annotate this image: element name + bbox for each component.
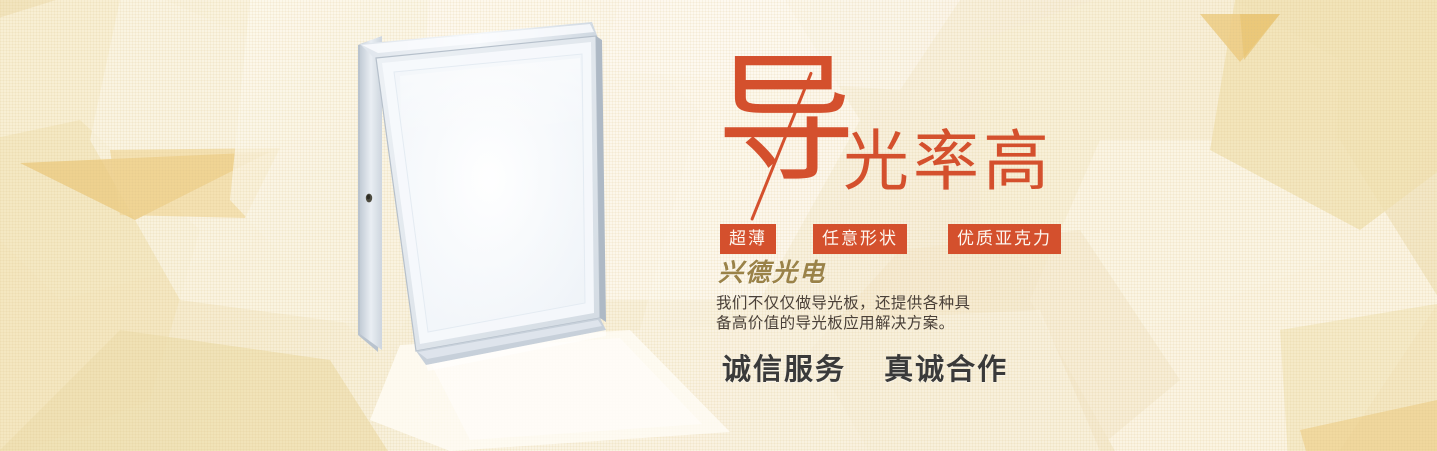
headline-primary-char: 导 — [716, 52, 856, 192]
description-text: 我们不仅仅做导光板，还提供各种具 备高价值的导光板应用解决方案。 — [716, 294, 1016, 334]
slogan-part-1: 诚信服务 — [722, 354, 846, 386]
headline-rest-text: 光率高 — [843, 130, 1053, 196]
description-line-2: 备高价值的导光板应用解决方案。 — [716, 314, 1016, 334]
brand-name: 兴德光电 — [718, 260, 826, 288]
promo-banner: 导 光率高 超薄 任意形状 优质亚克力 兴德光电 我们不仅仅做导光板，还提供各种… — [0, 0, 1437, 451]
slogan: 诚信服务 真诚合作 — [722, 353, 1008, 387]
slogan-part-2: 真诚合作 — [884, 354, 1008, 386]
description-line-1: 我们不仅仅做导光板，还提供各种具 — [716, 294, 1016, 314]
product-image-led-panel — [330, 0, 750, 451]
headline: 导 光率高 — [712, 52, 1132, 207]
feature-badge-list: 超薄 任意形状 优质亚克力 — [720, 224, 1061, 254]
feature-badge-any-shape[interactable]: 任意形状 — [813, 224, 907, 254]
feature-badge-premium-acrylic[interactable]: 优质亚克力 — [948, 224, 1061, 254]
feature-badge-ultrathin[interactable]: 超薄 — [720, 224, 776, 254]
banner-copy: 导 光率高 超薄 任意形状 优质亚克力 兴德光电 我们不仅仅做导光板，还提供各种… — [712, 0, 1312, 451]
